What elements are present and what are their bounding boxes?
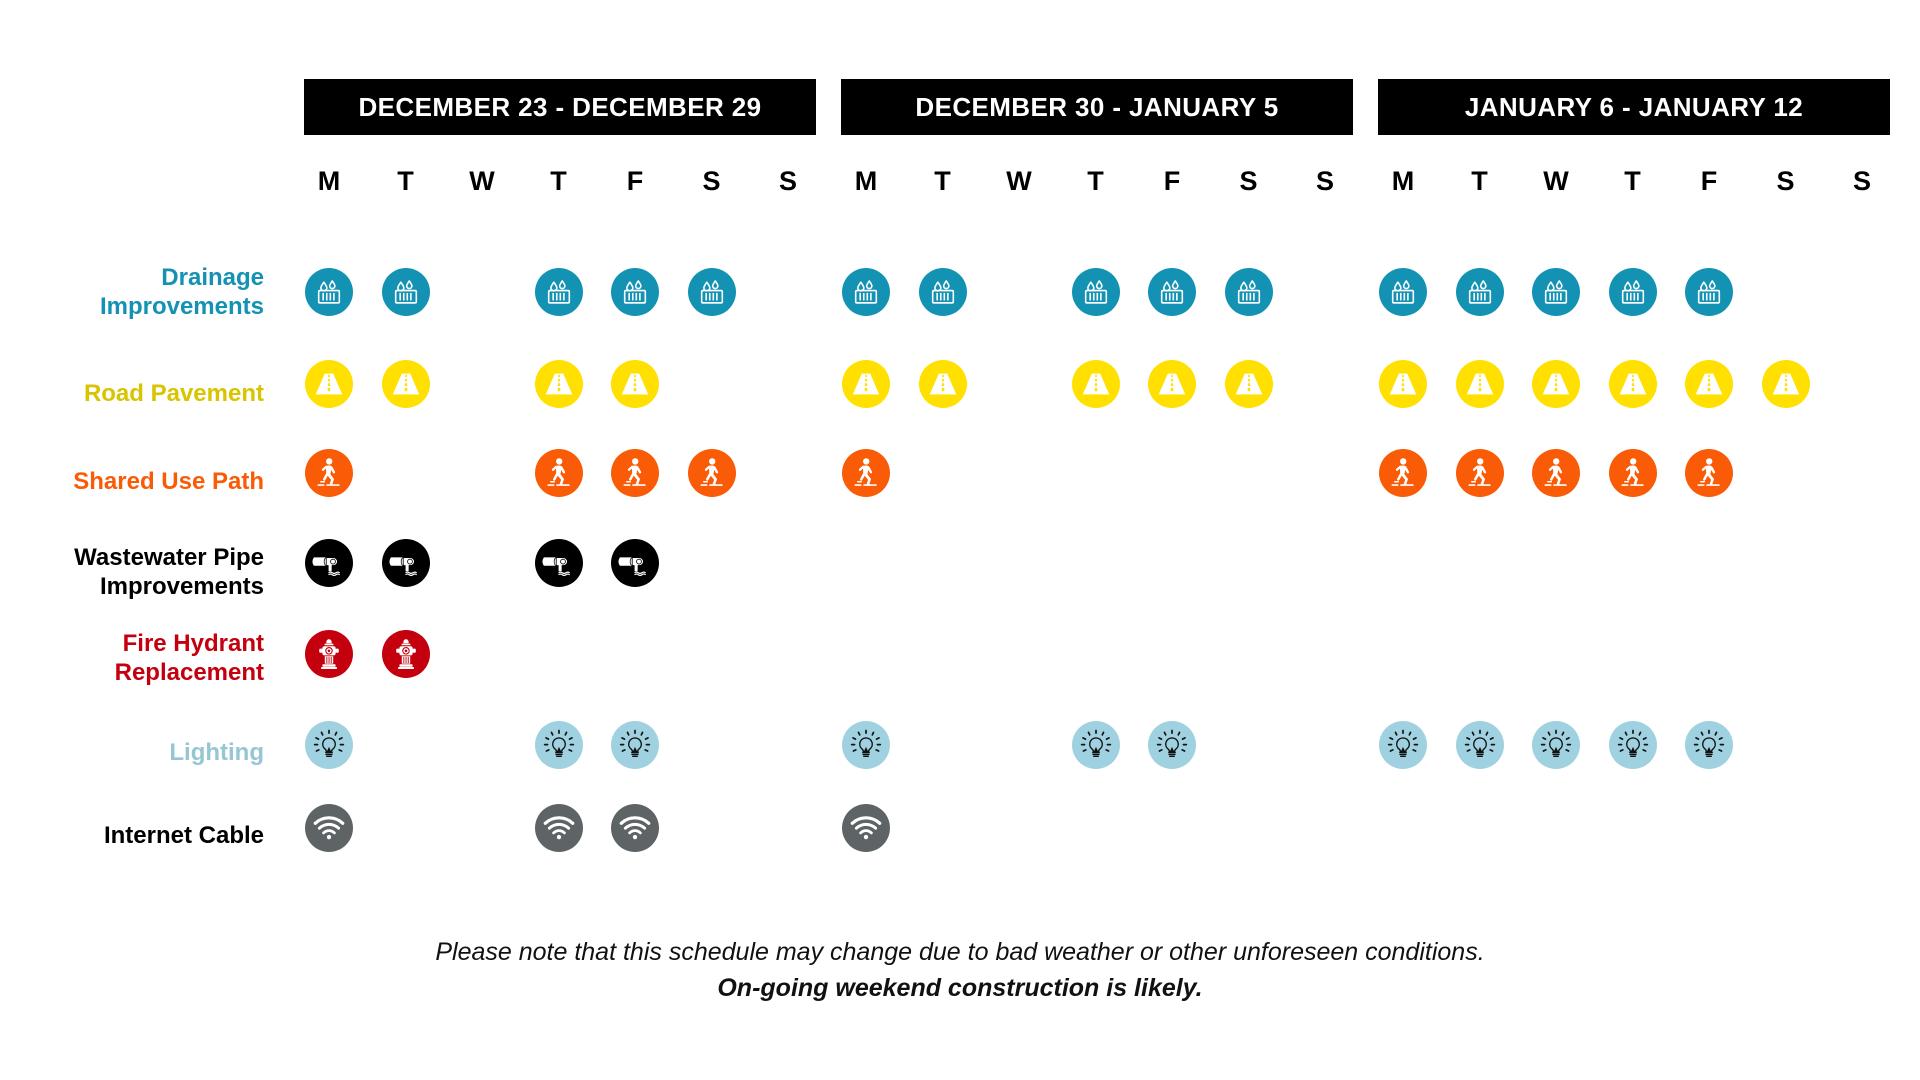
pipe-outflow-icon xyxy=(542,550,576,576)
badge-drainage-improvements-w2-d1 xyxy=(842,268,890,316)
badge-road-pavement-w3-d2 xyxy=(1456,360,1504,408)
badge-road-pavement-w2-d6 xyxy=(1225,360,1273,408)
badge-lighting-w2-d1 xyxy=(842,721,890,769)
day-letter-w1-d3: W xyxy=(462,168,502,195)
drain-grate-icon xyxy=(544,277,574,307)
road-icon xyxy=(1386,371,1420,397)
fire-hydrant-icon xyxy=(393,638,419,670)
badge-road-pavement-w2-d1 xyxy=(842,360,890,408)
light-bulb-icon xyxy=(1387,729,1419,761)
construction-schedule-chart: DECEMBER 23 - DECEMBER 29DECEMBER 30 - J… xyxy=(0,0,1920,1080)
day-letter-w1-d7: S xyxy=(768,168,808,195)
drain-grate-icon xyxy=(1465,277,1495,307)
road-icon xyxy=(849,371,883,397)
road-icon xyxy=(389,371,423,397)
drain-grate-icon xyxy=(851,277,881,307)
badge-drainage-improvements-w2-d5 xyxy=(1148,268,1196,316)
drain-grate-icon xyxy=(1618,277,1648,307)
day-letter-w2-d3: W xyxy=(999,168,1039,195)
light-bulb-icon xyxy=(1540,729,1572,761)
badge-drainage-improvements-w1-d5 xyxy=(611,268,659,316)
road-icon xyxy=(1079,371,1113,397)
wifi-icon xyxy=(543,815,575,841)
badge-lighting-w3-d1 xyxy=(1379,721,1427,769)
road-icon xyxy=(312,371,346,397)
drain-grate-icon xyxy=(314,277,344,307)
badge-road-pavement-w2-d2 xyxy=(919,360,967,408)
day-letter-w3-d6: S xyxy=(1766,168,1806,195)
road-icon xyxy=(618,371,652,397)
row-label-wastewater-pipe-improvements: Wastewater Pipe Improvements xyxy=(0,543,264,602)
week-header-1: DECEMBER 23 - DECEMBER 29 xyxy=(304,79,816,135)
badge-lighting-w3-d4 xyxy=(1609,721,1657,769)
badge-internet-cable-w1-d5 xyxy=(611,804,659,852)
road-icon xyxy=(1232,371,1266,397)
day-letter-w1-d1: M xyxy=(309,168,349,195)
badge-fire-hydrant-replacement-w1-d1 xyxy=(305,630,353,678)
badge-drainage-improvements-w1-d6 xyxy=(688,268,736,316)
road-icon xyxy=(1692,371,1726,397)
badge-road-pavement-w1-d5 xyxy=(611,360,659,408)
badge-shared-use-path-w1-d1 xyxy=(305,449,353,497)
drain-grate-icon xyxy=(1541,277,1571,307)
day-letter-w1-d5: F xyxy=(615,168,655,195)
footnote-line-2: On-going weekend construction is likely. xyxy=(0,974,1920,1003)
badge-drainage-improvements-w2-d4 xyxy=(1072,268,1120,316)
badge-drainage-improvements-w3-d2 xyxy=(1456,268,1504,316)
badge-drainage-improvements-w1-d1 xyxy=(305,268,353,316)
badge-drainage-improvements-w2-d2 xyxy=(919,268,967,316)
badge-internet-cable-w1-d4 xyxy=(535,804,583,852)
drain-grate-icon xyxy=(1081,277,1111,307)
road-icon xyxy=(1769,371,1803,397)
badge-shared-use-path-w2-d1 xyxy=(842,449,890,497)
week-header-2: DECEMBER 30 - JANUARY 5 xyxy=(841,79,1353,135)
pedestrian-icon xyxy=(1389,457,1417,489)
light-bulb-icon xyxy=(1156,729,1188,761)
badge-drainage-improvements-w3-d1 xyxy=(1379,268,1427,316)
wifi-icon xyxy=(619,815,651,841)
day-letter-w3-d3: W xyxy=(1536,168,1576,195)
badge-shared-use-path-w3-d2 xyxy=(1456,449,1504,497)
light-bulb-icon xyxy=(1464,729,1496,761)
row-label-road-pavement: Road Pavement xyxy=(0,379,264,408)
day-letter-w3-d4: T xyxy=(1613,168,1653,195)
badge-drainage-improvements-w1-d4 xyxy=(535,268,583,316)
badge-drainage-improvements-w3-d5 xyxy=(1685,268,1733,316)
badge-shared-use-path-w3-d3 xyxy=(1532,449,1580,497)
day-letter-w2-d2: T xyxy=(923,168,963,195)
road-icon xyxy=(1155,371,1189,397)
badge-road-pavement-w1-d2 xyxy=(382,360,430,408)
badge-lighting-w3-d3 xyxy=(1532,721,1580,769)
badge-wastewater-pipe-improvements-w1-d4 xyxy=(535,539,583,587)
light-bulb-icon xyxy=(543,729,575,761)
drain-grate-icon xyxy=(1157,277,1187,307)
badge-road-pavement-w3-d3 xyxy=(1532,360,1580,408)
badge-shared-use-path-w1-d4 xyxy=(535,449,583,497)
badge-road-pavement-w1-d1 xyxy=(305,360,353,408)
day-letter-w1-d4: T xyxy=(539,168,579,195)
pedestrian-icon xyxy=(1619,457,1647,489)
badge-wastewater-pipe-improvements-w1-d1 xyxy=(305,539,353,587)
badge-internet-cable-w1-d1 xyxy=(305,804,353,852)
drain-grate-icon xyxy=(1388,277,1418,307)
drain-grate-icon xyxy=(1694,277,1724,307)
light-bulb-icon xyxy=(850,729,882,761)
road-icon xyxy=(1539,371,1573,397)
badge-lighting-w1-d1 xyxy=(305,721,353,769)
day-letter-w3-d2: T xyxy=(1460,168,1500,195)
badge-lighting-w3-d5 xyxy=(1685,721,1733,769)
pipe-outflow-icon xyxy=(389,550,423,576)
badge-shared-use-path-w1-d6 xyxy=(688,449,736,497)
day-letter-w3-d1: M xyxy=(1383,168,1423,195)
day-letter-w1-d2: T xyxy=(386,168,426,195)
row-label-fire-hydrant-replacement: Fire Hydrant Replacement xyxy=(0,629,264,688)
badge-lighting-w1-d4 xyxy=(535,721,583,769)
road-icon xyxy=(1463,371,1497,397)
badge-shared-use-path-w3-d1 xyxy=(1379,449,1427,497)
pedestrian-icon xyxy=(1466,457,1494,489)
light-bulb-icon xyxy=(619,729,651,761)
badge-lighting-w3-d2 xyxy=(1456,721,1504,769)
pedestrian-icon xyxy=(1695,457,1723,489)
badge-road-pavement-w3-d6 xyxy=(1762,360,1810,408)
badge-lighting-w2-d4 xyxy=(1072,721,1120,769)
badge-drainage-improvements-w3-d3 xyxy=(1532,268,1580,316)
footnote-line-1: Please note that this schedule may chang… xyxy=(0,938,1920,967)
pedestrian-icon xyxy=(315,457,343,489)
day-letter-w2-d6: S xyxy=(1229,168,1269,195)
day-letter-w2-d5: F xyxy=(1152,168,1192,195)
light-bulb-icon xyxy=(1080,729,1112,761)
badge-drainage-improvements-w2-d6 xyxy=(1225,268,1273,316)
day-letter-w2-d4: T xyxy=(1076,168,1116,195)
badge-road-pavement-w3-d4 xyxy=(1609,360,1657,408)
badge-fire-hydrant-replacement-w1-d2 xyxy=(382,630,430,678)
badge-drainage-improvements-w3-d4 xyxy=(1609,268,1657,316)
light-bulb-icon xyxy=(1693,729,1725,761)
road-icon xyxy=(542,371,576,397)
drain-grate-icon xyxy=(697,277,727,307)
pedestrian-icon xyxy=(621,457,649,489)
row-label-internet-cable: Internet Cable xyxy=(0,821,264,850)
light-bulb-icon xyxy=(1617,729,1649,761)
pipe-outflow-icon xyxy=(312,550,346,576)
row-label-shared-use-path: Shared Use Path xyxy=(0,467,264,496)
badge-shared-use-path-w3-d4 xyxy=(1609,449,1657,497)
badge-road-pavement-w2-d4 xyxy=(1072,360,1120,408)
light-bulb-icon xyxy=(313,729,345,761)
badge-road-pavement-w3-d5 xyxy=(1685,360,1733,408)
pedestrian-icon xyxy=(852,457,880,489)
badge-shared-use-path-w3-d5 xyxy=(1685,449,1733,497)
drain-grate-icon xyxy=(928,277,958,307)
pedestrian-icon xyxy=(1542,457,1570,489)
road-icon xyxy=(926,371,960,397)
day-letter-w2-d1: M xyxy=(846,168,886,195)
row-label-lighting: Lighting xyxy=(0,738,264,767)
badge-road-pavement-w2-d5 xyxy=(1148,360,1196,408)
day-letter-w1-d6: S xyxy=(692,168,732,195)
badge-lighting-w1-d5 xyxy=(611,721,659,769)
row-label-drainage-improvements: Drainage Improvements xyxy=(0,263,264,322)
road-icon xyxy=(1616,371,1650,397)
badge-road-pavement-w3-d1 xyxy=(1379,360,1427,408)
badge-road-pavement-w1-d4 xyxy=(535,360,583,408)
day-letter-w2-d7: S xyxy=(1305,168,1345,195)
drain-grate-icon xyxy=(391,277,421,307)
pedestrian-icon xyxy=(545,457,573,489)
fire-hydrant-icon xyxy=(316,638,342,670)
badge-drainage-improvements-w1-d2 xyxy=(382,268,430,316)
badge-wastewater-pipe-improvements-w1-d5 xyxy=(611,539,659,587)
badge-lighting-w2-d5 xyxy=(1148,721,1196,769)
day-letter-w3-d7: S xyxy=(1842,168,1882,195)
wifi-icon xyxy=(850,815,882,841)
week-header-3: JANUARY 6 - JANUARY 12 xyxy=(1378,79,1890,135)
drain-grate-icon xyxy=(1234,277,1264,307)
pedestrian-icon xyxy=(698,457,726,489)
badge-internet-cable-w2-d1 xyxy=(842,804,890,852)
pipe-outflow-icon xyxy=(618,550,652,576)
drain-grate-icon xyxy=(620,277,650,307)
day-letter-w3-d5: F xyxy=(1689,168,1729,195)
badge-shared-use-path-w1-d5 xyxy=(611,449,659,497)
badge-wastewater-pipe-improvements-w1-d2 xyxy=(382,539,430,587)
wifi-icon xyxy=(313,815,345,841)
